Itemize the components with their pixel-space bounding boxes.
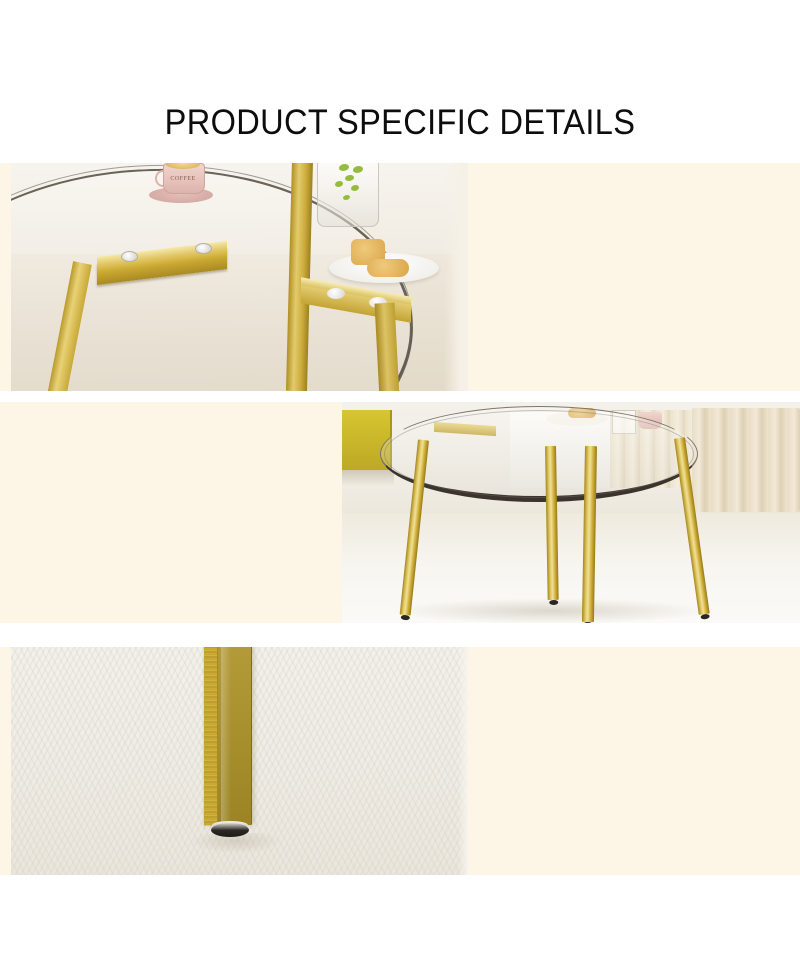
photo-edge-fade [444,163,468,391]
page-title: PRODUCT SPECIFIC DETAILS [28,103,772,143]
non-slip-pad [211,823,249,837]
product-photo-non-slip-mat [11,647,468,875]
gold-table-leg-side [204,647,217,825]
detail-section-metal-support-leg: Metal Support Leg Stable & Durable [0,402,800,623]
product-detail-page: PRODUCT SPECIFIC DETAILS COFFEE [0,0,800,977]
glass-suction-pad [121,251,138,262]
glass-suction-pad [327,288,345,299]
gold-table-leg-sheen [221,647,231,825]
product-photo-tempered-glass: COFFEE [11,163,468,391]
curtain [692,408,800,512]
detail-section-tempered-glass: COFFEE [0,163,800,391]
glass-tabletop-highlight [384,410,694,498]
glass-suction-pad [195,243,212,254]
green-plant [327,163,371,219]
photo-edge-fade [458,647,468,875]
photo-edge-fade [330,402,342,623]
product-photo-metal-support-leg [330,402,800,623]
detail-section-non-slip-mat: Non-slip Mat Avoid scratching the floor [0,647,800,875]
cookie [367,259,409,277]
coffee-cup-label: COFFEE [163,176,203,182]
